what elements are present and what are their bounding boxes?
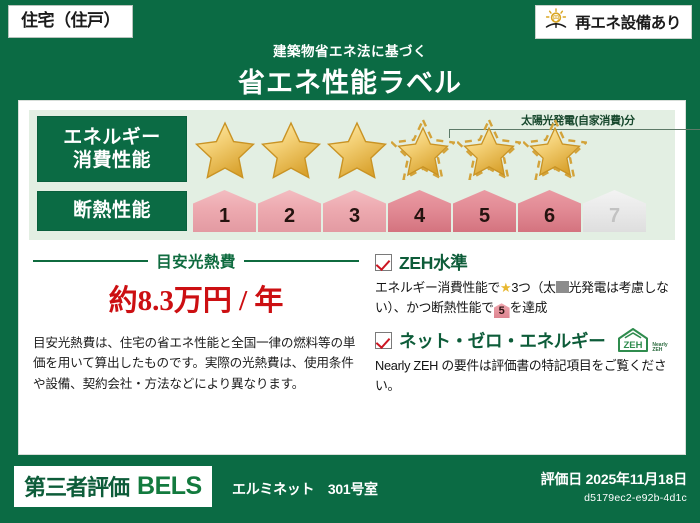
insulation-level-badge-icon: 5 — [494, 303, 510, 318]
zeh-mark-subtext: Nearly ZEH — [652, 343, 667, 354]
zeh-body-mid: 3つ（太 — [511, 280, 555, 295]
utility-cost-value: 約8.3万円 / 年 — [33, 277, 359, 319]
zeh-sub-line2: ZEH — [652, 347, 662, 353]
net-zero-title: ネット・ゼロ・エネルギー — [399, 328, 605, 353]
insulation-level-5: 5 — [453, 190, 516, 232]
zeh-house-mark-icon: ZEH Nearly ZEH — [616, 327, 667, 353]
cost-rule-right — [244, 260, 359, 262]
renewable-badge-label: 再エネ設備あり — [575, 11, 681, 33]
third-party-evaluation-label: 第三者評価 — [24, 470, 129, 502]
svg-text:ZEH: ZEH — [624, 340, 643, 351]
star-filled — [193, 118, 257, 180]
check-item-net-zero-energy: ネット・ゼロ・エネルギー ZEH Nearly ZEH — [375, 327, 673, 396]
zeh-level-title: ZEH水準 — [399, 250, 468, 275]
checkbox-checked-icon — [375, 254, 392, 271]
energy-label-line2: 消費性能 — [73, 149, 151, 172]
utility-cost-heading: 目安光熱費 — [33, 250, 359, 272]
zeh-level-body: エネルギー消費性能で★3つ（太光発電は考慮しない）、かつ断熱性能で5を達成 — [375, 278, 673, 318]
evaluation-id: d5179ec2-e92b-4d1c — [541, 492, 687, 504]
insulation-level-scale: 1 2 3 4 5 6 7 — [187, 190, 646, 232]
zeh-body-post: を達成 — [510, 300, 548, 315]
evaluation-info: 評価日 2025年11月18日 d5179ec2-e92b-4d1c — [541, 469, 687, 504]
performance-panel: 太陽光発電(自家消費)分 エネルギー 消費性能 — [29, 110, 675, 240]
inline-star-icon: ★ — [500, 280, 511, 295]
insulation-level-7: 7 — [583, 190, 646, 232]
svg-text:円: 円 — [553, 15, 559, 22]
dwelling-type-chip: 住宅（住戸） — [8, 5, 133, 38]
energy-label-root: 住宅（住戸） 円 再エネ設備あり 建築物省エネ法に基づく 省エネ性能ラベル — [0, 0, 700, 523]
zeh-body-pre: エネルギー消費性能で — [375, 280, 500, 295]
insulation-level-2: 2 — [258, 190, 321, 232]
energy-performance-row: エネルギー 消費性能 — [37, 116, 667, 182]
star-solar — [391, 118, 455, 180]
check-item-zeh-level: ZEH水準 エネルギー消費性能で★3つ（太光発電は考慮しない）、かつ断熱性能で5… — [375, 250, 673, 318]
star-solar — [523, 118, 587, 180]
bels-plate: 第三者評価 BELS — [14, 466, 212, 507]
checkbox-checked-icon — [375, 332, 392, 349]
label-title: 省エネ性能ラベル — [0, 61, 700, 100]
energy-star-rating — [187, 118, 587, 180]
utility-cost-heading-label: 目安光熱費 — [156, 250, 236, 272]
net-zero-title-row: ネット・ゼロ・エネルギー ZEH Nearly ZEH — [375, 327, 673, 353]
net-zero-body: Nearly ZEH の要件は評価書の特記項目をご覧ください。 — [375, 356, 673, 396]
insulation-level-1: 1 — [193, 190, 256, 232]
cost-rule-left — [33, 260, 148, 262]
star-filled — [259, 118, 323, 180]
star-solar — [457, 118, 521, 180]
building-name: エルミネット 301号室 — [232, 479, 378, 499]
compliance-column: ZEH水準 エネルギー消費性能で★3つ（太光発電は考慮しない）、かつ断熱性能で5… — [371, 248, 685, 396]
insulation-performance-label: 断熱性能 — [37, 191, 187, 231]
zeh-level-title-row: ZEH水準 — [375, 250, 673, 275]
label-footer: 第三者評価 BELS エルミネット 301号室 評価日 2025年11月18日 … — [0, 455, 700, 523]
insulation-level-6: 6 — [518, 190, 581, 232]
label-body-card: 太陽光発電(自家消費)分 エネルギー 消費性能 — [18, 100, 686, 455]
energy-performance-label: エネルギー 消費性能 — [37, 116, 187, 182]
renewable-equipment-badge: 円 再エネ設備あり — [535, 5, 692, 39]
utility-cost-column: 目安光熱費 約8.3万円 / 年 目安光熱費は、住宅の省エネ性能と全国一律の燃料… — [19, 248, 371, 396]
label-heading: 建築物省エネ法に基づく 省エネ性能ラベル — [0, 40, 700, 100]
utility-cost-note: 目安光熱費は、住宅の省エネ性能と全国一律の燃料等の単価を用いて算出したものです。… — [33, 333, 359, 394]
energy-label-line1: エネルギー — [63, 126, 161, 149]
insulation-level-3: 3 — [323, 190, 386, 232]
star-filled — [325, 118, 389, 180]
sun-icon: 円 — [544, 8, 568, 35]
insulation-performance-row: 断熱性能 1 2 3 4 5 6 7 — [37, 190, 667, 232]
label-subtitle: 建築物省エネ法に基づく — [0, 40, 700, 60]
bels-logo-text: BELS — [137, 472, 202, 501]
label-lower-section: 目安光熱費 約8.3万円 / 年 目安光熱費は、住宅の省エネ性能と全国一律の燃料… — [19, 248, 685, 396]
redaction-block — [556, 281, 569, 293]
insulation-level-4: 4 — [388, 190, 451, 232]
evaluation-date: 評価日 2025年11月18日 — [541, 469, 687, 489]
